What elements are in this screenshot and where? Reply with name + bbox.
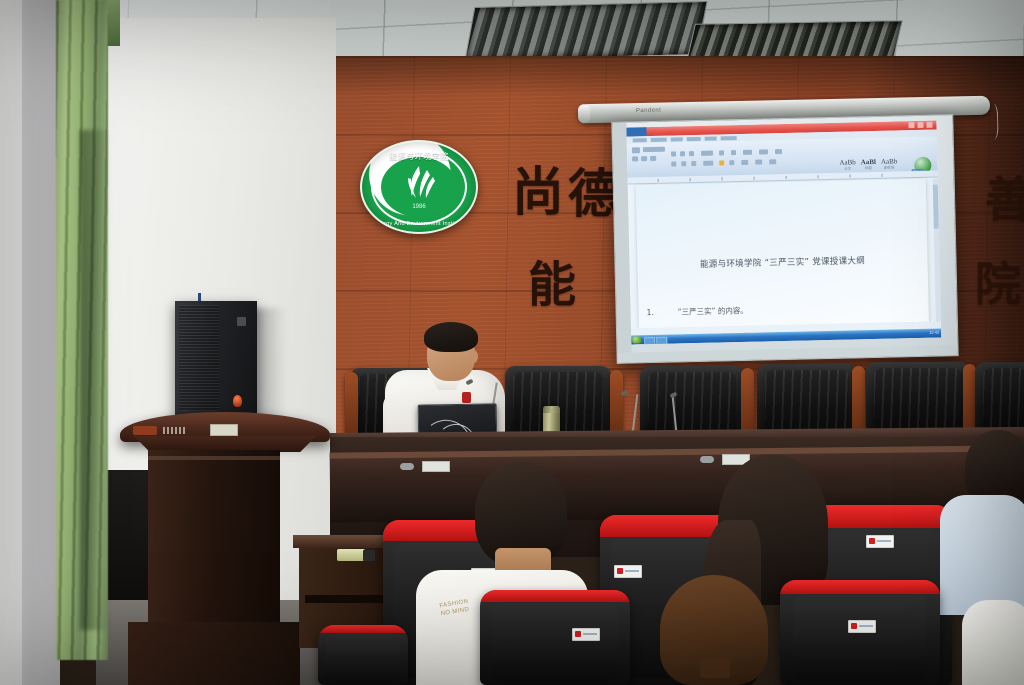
slide-item-1: 1.“三严三实” 的内容。 — [647, 305, 749, 318]
wall-character-shan: 善 — [985, 160, 1024, 230]
seat-row2-col2 — [780, 580, 940, 685]
exec-chair-5 — [866, 362, 970, 436]
document-scrollbar[interactable] — [933, 179, 941, 322]
audience-3-ponytail-tie — [700, 658, 730, 678]
speaker-led-icon — [233, 395, 242, 407]
document-page: 能源与环境学院 “三严三实” 党课授课大纲 1.“三严三实” 的内容。 1.1 … — [636, 179, 929, 329]
exec-chair-4 — [757, 364, 857, 438]
speaker-grille — [179, 305, 219, 411]
flask-cap — [543, 406, 560, 413]
side-table-object-2 — [363, 550, 375, 561]
window-controls-icon — [908, 122, 934, 129]
office-button-icon — [626, 127, 646, 136]
start-button-icon[interactable] — [632, 336, 641, 343]
style-item-subtitle[interactable]: AaBb 副标题 — [881, 157, 898, 170]
taskbar-clock: 15:42 — [929, 330, 939, 335]
wall-speaker-box — [175, 301, 257, 415]
seat-row2-col0 — [318, 625, 408, 685]
taskbar-icon-2[interactable] — [656, 336, 667, 344]
speaker-ear — [469, 350, 478, 363]
desk-knob-right — [700, 456, 714, 463]
speaker-badge — [462, 392, 471, 403]
wall-character-yuan: 院 — [975, 248, 1021, 314]
speaker-box-shadow — [252, 308, 286, 428]
audience-5-shirt — [962, 600, 1024, 685]
seat-pad — [325, 633, 401, 682]
seat-edge — [812, 505, 952, 528]
desk-plate-left — [422, 461, 450, 472]
institute-logo: 能源与环境学院 1986 Energy And Environment Inst… — [360, 140, 478, 234]
podium-trim-band — [148, 456, 280, 460]
seat-number-tag — [866, 535, 894, 548]
seat-row2-col1 — [480, 590, 630, 685]
seat-pad — [793, 595, 927, 681]
podium-text-strip — [163, 427, 185, 434]
seat-edge — [780, 580, 940, 594]
leaf-icon — [400, 163, 438, 203]
style-item-normal[interactable]: AaBb 正文 — [839, 158, 856, 171]
desk-knob-left — [400, 463, 414, 470]
logo-english-name: Energy And Environment Institute — [362, 221, 476, 227]
wall-character-neng: 能 — [528, 245, 576, 315]
curtain-shadow — [80, 130, 108, 630]
taskbar-icon-1[interactable] — [644, 336, 655, 344]
screen-pull-cord — [987, 104, 999, 140]
podium-base — [128, 622, 300, 685]
logo-chinese-name: 能源与环境学院 — [389, 151, 449, 162]
style-gallery[interactable]: AaBb 正文 AaBl 标题 AaBb 副标题 — [839, 157, 897, 171]
audience-4-shirt — [940, 495, 1024, 615]
exec-chair-6 — [975, 362, 1024, 436]
projected-word-application: AaBb 正文 AaBl 标题 AaBb 副标题 Bing — [626, 121, 941, 345]
speaker-port-icon — [237, 317, 246, 326]
seat-number-tag — [848, 620, 876, 633]
side-table-object-1 — [337, 549, 365, 561]
podium-column — [148, 450, 280, 630]
speaker-hair — [424, 322, 478, 352]
air-vent-icon — [464, 1, 707, 61]
style-item-heading[interactable]: AaBl 标题 — [861, 158, 876, 171]
seat-edge — [318, 625, 408, 633]
seat-edge — [480, 590, 630, 602]
roller-end-cap — [578, 104, 590, 123]
seat-pad — [492, 603, 618, 681]
left-pillar-edge — [0, 0, 22, 685]
seat-number-tag — [614, 565, 642, 578]
roller-brand-label: Pandent — [636, 108, 661, 115]
podium-name-plate — [210, 424, 238, 436]
logo-year: 1986 — [362, 204, 476, 210]
seat-number-tag — [572, 628, 600, 641]
projection-screen: AaBb 正文 AaBl 标题 AaBb 副标题 Bing — [611, 114, 958, 364]
podium-emblem-icon — [133, 426, 157, 435]
wall-character-shang: 尚 — [512, 150, 564, 225]
lecture-hall-photo: 能源与环境学院 1986 Energy And Environment Inst… — [0, 0, 1024, 685]
